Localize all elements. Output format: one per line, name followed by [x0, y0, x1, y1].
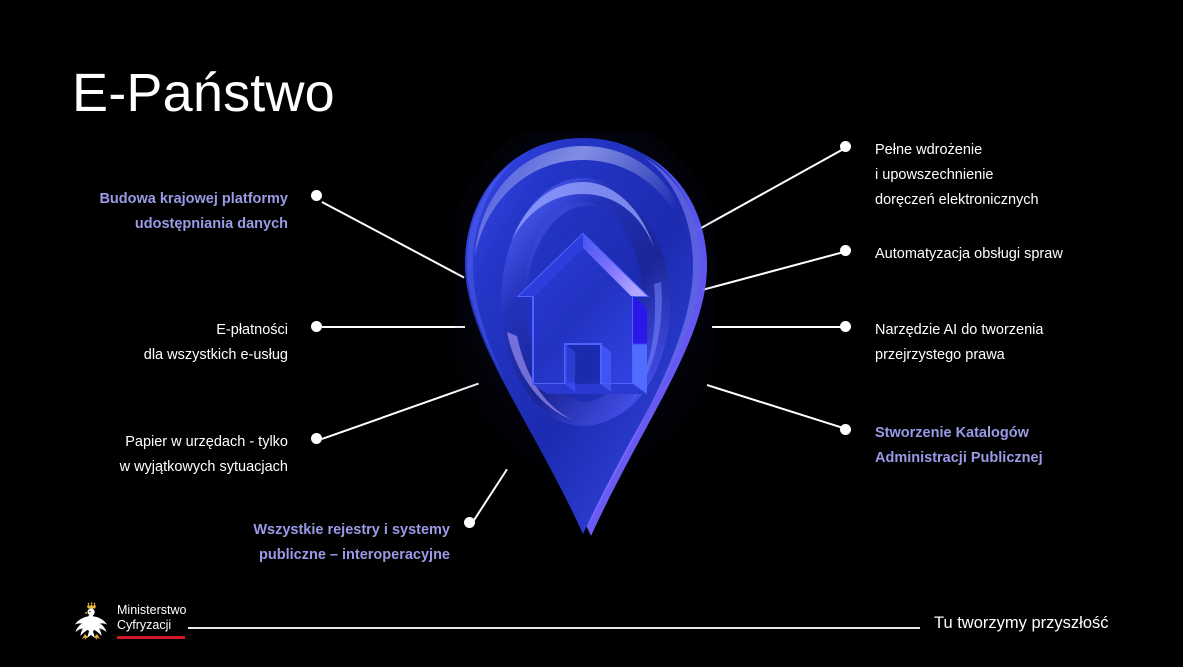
ministry-red-bar	[117, 636, 185, 639]
connector-dot-katalogi[interactable]	[840, 424, 851, 435]
callout-line: dla wszystkich e-usług	[0, 343, 288, 368]
ministry-line-1: Ministerstwo	[117, 603, 186, 618]
connector-dot-narzedzie-ai[interactable]	[840, 321, 851, 332]
page-title: E-Państwo	[72, 64, 335, 123]
connector-line-narzedzie-ai	[712, 326, 846, 328]
callout-line: Stworzenie Katalogów	[875, 421, 1043, 446]
connector-dot-doreczenia[interactable]	[840, 141, 851, 152]
callout-label-automatyzacja: Automatyzacja obsługi spraw	[875, 242, 1063, 267]
ministry-name: Ministerstwo Cyfryzacji	[117, 601, 186, 639]
callout-label-narzedzie-ai: Narzędzie AI do tworzenia przejrzystego …	[875, 318, 1043, 368]
callout-line: Pełne wdrożenie	[875, 138, 1039, 163]
callout-line: i upowszechnienie	[875, 163, 1039, 188]
callout-line: Narzędzie AI do tworzenia	[875, 318, 1043, 343]
connector-line-budowa-platformy	[322, 201, 465, 278]
callout-label-budowa-platformy: Budowa krajowej platformy udostępniania …	[0, 187, 288, 237]
callout-label-e-platnosci: E-płatności dla wszystkich e-usług	[0, 318, 288, 368]
callout-line: udostępniania danych	[0, 212, 288, 237]
tagline: Tu tworzymy przyszłość	[934, 614, 1109, 633]
callout-label-rejestry: Wszystkie rejestry i systemy publiczne –…	[0, 518, 450, 568]
map-pin-house-icon	[455, 132, 715, 542]
callout-line: publiczne – interoperacyjne	[0, 543, 450, 568]
callout-line: w wyjątkowych sytuacjach	[0, 455, 288, 480]
connector-line-e-platnosci	[322, 326, 465, 328]
callout-label-katalogi: Stworzenie Katalogów Administracji Publi…	[875, 421, 1043, 471]
connector-dot-papier-w-urzedach[interactable]	[311, 433, 322, 444]
callout-line: przejrzystego prawa	[875, 343, 1043, 368]
connector-line-automatyzacja	[702, 250, 846, 290]
connector-line-katalogi	[707, 384, 847, 429]
callout-line: Budowa krajowej platformy	[0, 187, 288, 212]
callout-line: E-płatności	[0, 318, 288, 343]
polish-eagle-emblem-icon	[72, 601, 110, 643]
callout-label-papier-w-urzedach: Papier w urzędach - tylko w wyjątkowych …	[0, 430, 288, 480]
footer-divider	[188, 627, 920, 629]
slide-canvas: E-Państwo Budowa krajowej platformy udos…	[0, 0, 1183, 667]
callout-line: Automatyzacja obsługi spraw	[875, 242, 1063, 267]
callout-label-doreczenia: Pełne wdrożenie i upowszechnienie doręcz…	[875, 138, 1039, 213]
callout-line: Administracji Publicznej	[875, 446, 1043, 471]
callout-line: Wszystkie rejestry i systemy	[0, 518, 450, 543]
callout-line: doręczeń elektronicznych	[875, 188, 1039, 213]
callout-line: Papier w urzędach - tylko	[0, 430, 288, 455]
connector-dot-budowa-platformy[interactable]	[311, 190, 322, 201]
ministry-logo: Ministerstwo Cyfryzacji	[72, 601, 186, 643]
connector-dot-e-platnosci[interactable]	[311, 321, 322, 332]
ministry-line-2: Cyfryzacji	[117, 618, 186, 633]
connector-dot-automatyzacja[interactable]	[840, 245, 851, 256]
